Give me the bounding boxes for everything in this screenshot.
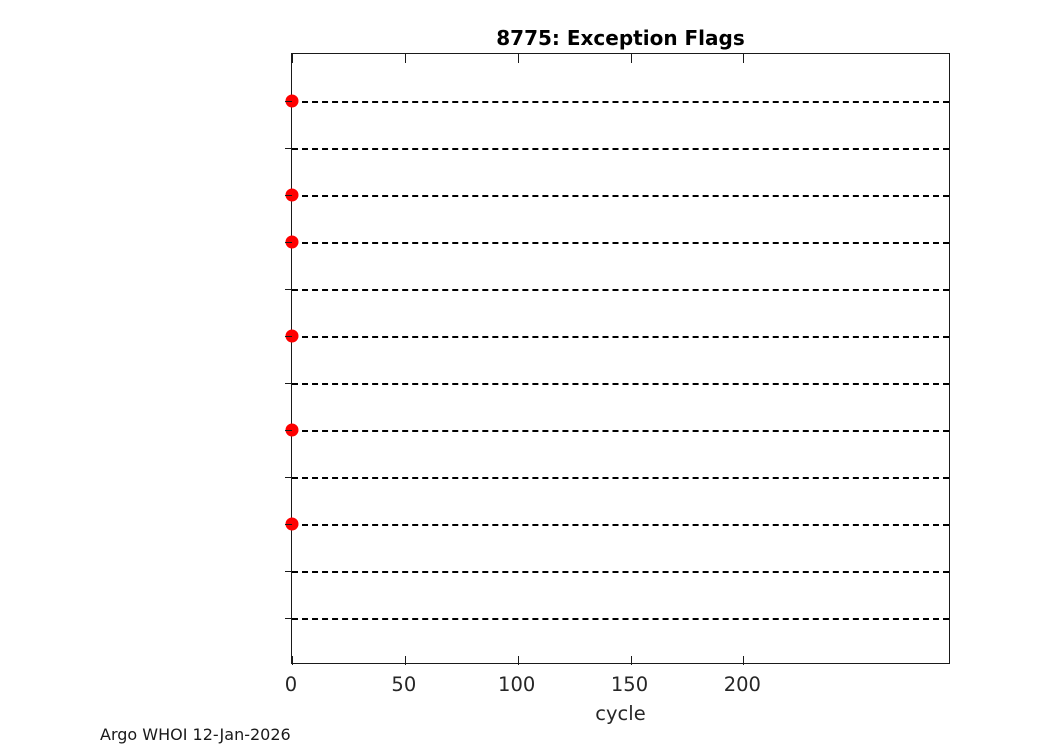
grid-row — [292, 430, 949, 432]
grid-row — [292, 289, 949, 291]
grid-row — [292, 571, 949, 573]
x-tick-label: 150 — [611, 673, 648, 696]
y-tick-mark — [285, 618, 292, 619]
y-tick-mark — [285, 524, 292, 525]
grid-row — [292, 477, 949, 479]
x-tick-mark — [292, 656, 293, 665]
x-tick-label: 0 — [285, 673, 297, 696]
y-tick-mark — [285, 148, 292, 149]
x-tick-mark-top — [518, 54, 519, 63]
grid-row — [292, 242, 949, 244]
grid-row — [292, 618, 949, 620]
x-tick-label: 50 — [391, 673, 416, 696]
chart-figure: 8775: Exception Flags VALVE FAILED TO OP… — [0, 0, 1050, 750]
y-tick-mark — [285, 383, 292, 384]
x-tick-mark — [405, 656, 406, 665]
grid-row — [292, 383, 949, 385]
y-tick-mark — [285, 289, 292, 290]
x-tick-mark-top — [743, 54, 744, 63]
chart-title: 8775: Exception Flags — [291, 26, 950, 50]
x-tick-mark-top — [631, 54, 632, 63]
grid-row — [292, 195, 949, 197]
y-tick-mark — [285, 430, 292, 431]
x-tick-label: 200 — [724, 673, 761, 696]
y-tick-mark — [285, 101, 292, 102]
x-axis-label: cycle — [291, 702, 950, 725]
footer-note: Argo WHOI 12-Jan-2026 — [100, 725, 291, 744]
plot-area — [291, 53, 950, 664]
y-tick-mark — [285, 195, 292, 196]
y-tick-mark — [285, 477, 292, 478]
x-tick-mark — [631, 656, 632, 665]
grid-row — [292, 148, 949, 150]
grid-row — [292, 101, 949, 103]
y-tick-mark — [285, 242, 292, 243]
y-tick-mark — [285, 336, 292, 337]
x-tick-mark-top — [292, 54, 293, 63]
grid-row — [292, 524, 949, 526]
y-tick-mark — [285, 571, 292, 572]
x-tick-label: 100 — [498, 673, 535, 696]
grid-row — [292, 336, 949, 338]
x-tick-mark-top — [405, 54, 406, 63]
x-tick-mark — [743, 656, 744, 665]
x-tick-mark — [518, 656, 519, 665]
